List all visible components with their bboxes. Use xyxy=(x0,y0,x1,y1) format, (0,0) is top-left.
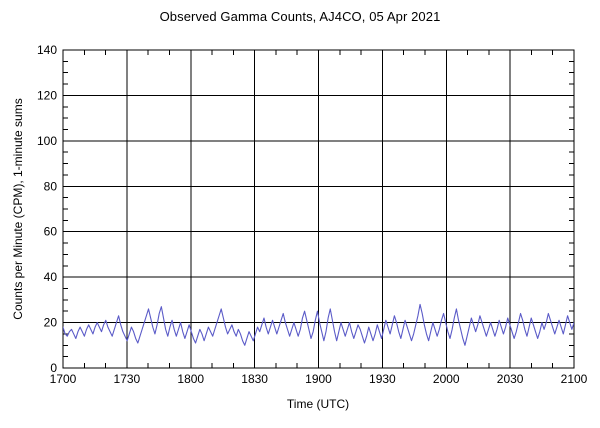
x-tick-label: 2100 xyxy=(561,372,588,386)
y-tick-label: 60 xyxy=(44,225,58,239)
y-axis-label: Counts per Minute (CPM), 1-minute sums xyxy=(11,98,25,319)
x-tick-label: 1730 xyxy=(114,372,141,386)
y-tick-label: 120 xyxy=(37,88,57,102)
x-tick-label: 1830 xyxy=(241,372,268,386)
x-tick-label: 1800 xyxy=(177,372,204,386)
x-tick-label: 2030 xyxy=(497,372,524,386)
x-tick-label: 2000 xyxy=(433,372,460,386)
x-axis-label: Time (UTC) xyxy=(287,397,349,411)
y-tick-label: 0 xyxy=(50,361,57,375)
gamma-counts-line-chart: 170017301800183019001930200020302100 020… xyxy=(0,0,600,428)
chart-figure: Observed Gamma Counts, AJ4CO, 05 Apr 202… xyxy=(0,0,600,428)
y-tick-label: 40 xyxy=(44,270,58,284)
y-tick-label: 20 xyxy=(44,316,58,330)
grid-lines xyxy=(63,50,574,368)
y-tick-labels: 020406080100120140 xyxy=(37,43,57,375)
y-tick-label: 80 xyxy=(44,179,58,193)
y-tick-label: 100 xyxy=(37,134,57,148)
x-tick-labels: 170017301800183019001930200020302100 xyxy=(50,372,588,386)
x-tick-label: 1900 xyxy=(305,372,332,386)
y-tick-label: 140 xyxy=(37,43,57,57)
x-tick-label: 1930 xyxy=(369,372,396,386)
